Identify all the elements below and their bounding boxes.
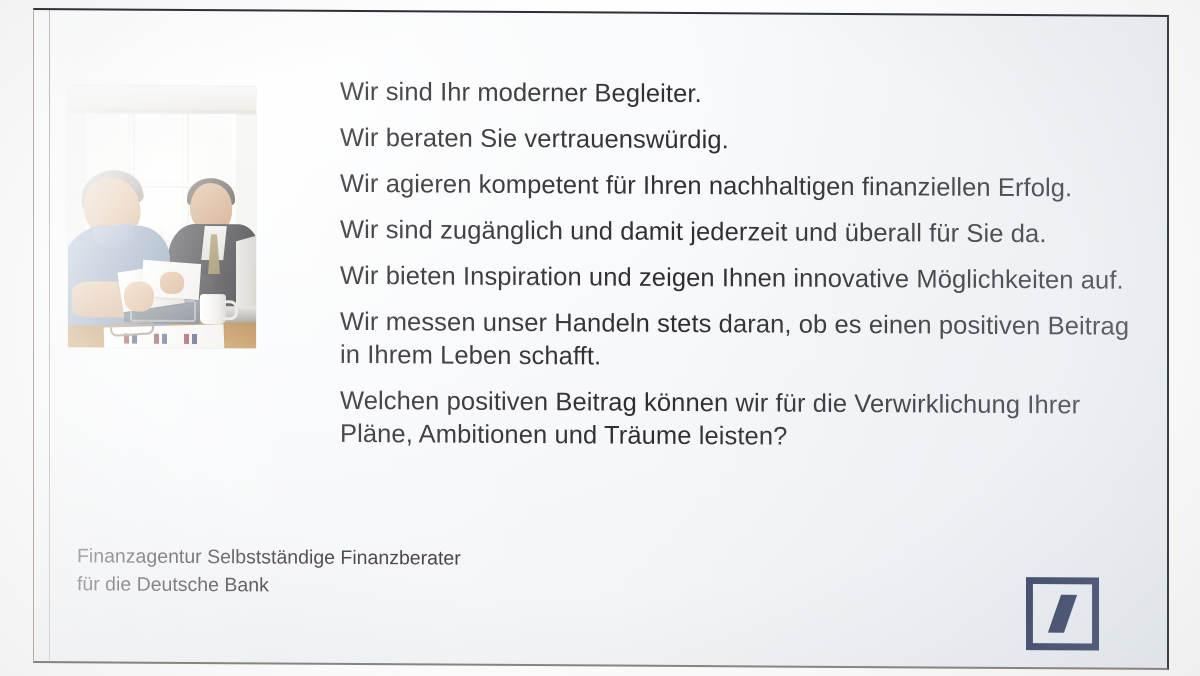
- photo-chart-bar: [162, 334, 167, 344]
- photo-advisor-hand: [160, 272, 184, 294]
- statement-line: Wir beraten Sie vertrauenswürdig.: [340, 122, 1150, 160]
- photo-client-hand: [124, 282, 154, 312]
- statement-line: Wir agieren kompetent für Ihren nachhalt…: [340, 168, 1150, 206]
- poster-photo-scene: Wir sind Ihr moderner Begleiter. Wir ber…: [0, 0, 1200, 676]
- photo-ceiling: [68, 85, 256, 112]
- statement-line: Wir sind zugänglich und damit jederzeit …: [340, 214, 1150, 252]
- statement-line: Welchen positiven Beitrag können wir für…: [340, 385, 1150, 456]
- advisory-meeting-photo: [68, 85, 256, 348]
- poster-sheet: Wir sind Ihr moderner Begleiter. Wir ber…: [33, 8, 1169, 670]
- photo-eyeglasses: [110, 320, 155, 337]
- statement-line: Wir bieten Inspiration und zeigen Ihnen …: [340, 260, 1150, 298]
- brand-statements: Wir sind Ihr moderner Begleiter. Wir ber…: [340, 76, 1150, 469]
- statement-line: Wir sind Ihr moderner Begleiter.: [340, 76, 1150, 114]
- paper-seam: [49, 8, 50, 663]
- deutsche-bank-logo-icon: [1026, 577, 1099, 650]
- photo-coffee-mug-handle: [223, 300, 238, 320]
- photo-chart-bar: [154, 334, 159, 344]
- photo-chart-bar: [184, 334, 189, 344]
- photo-chart-bar: [192, 334, 197, 344]
- statement-line: Wir messen unser Handeln stets daran, ob…: [340, 306, 1150, 377]
- organisation-name: Finanzagentur Selbstständige Finanzberat…: [77, 542, 461, 600]
